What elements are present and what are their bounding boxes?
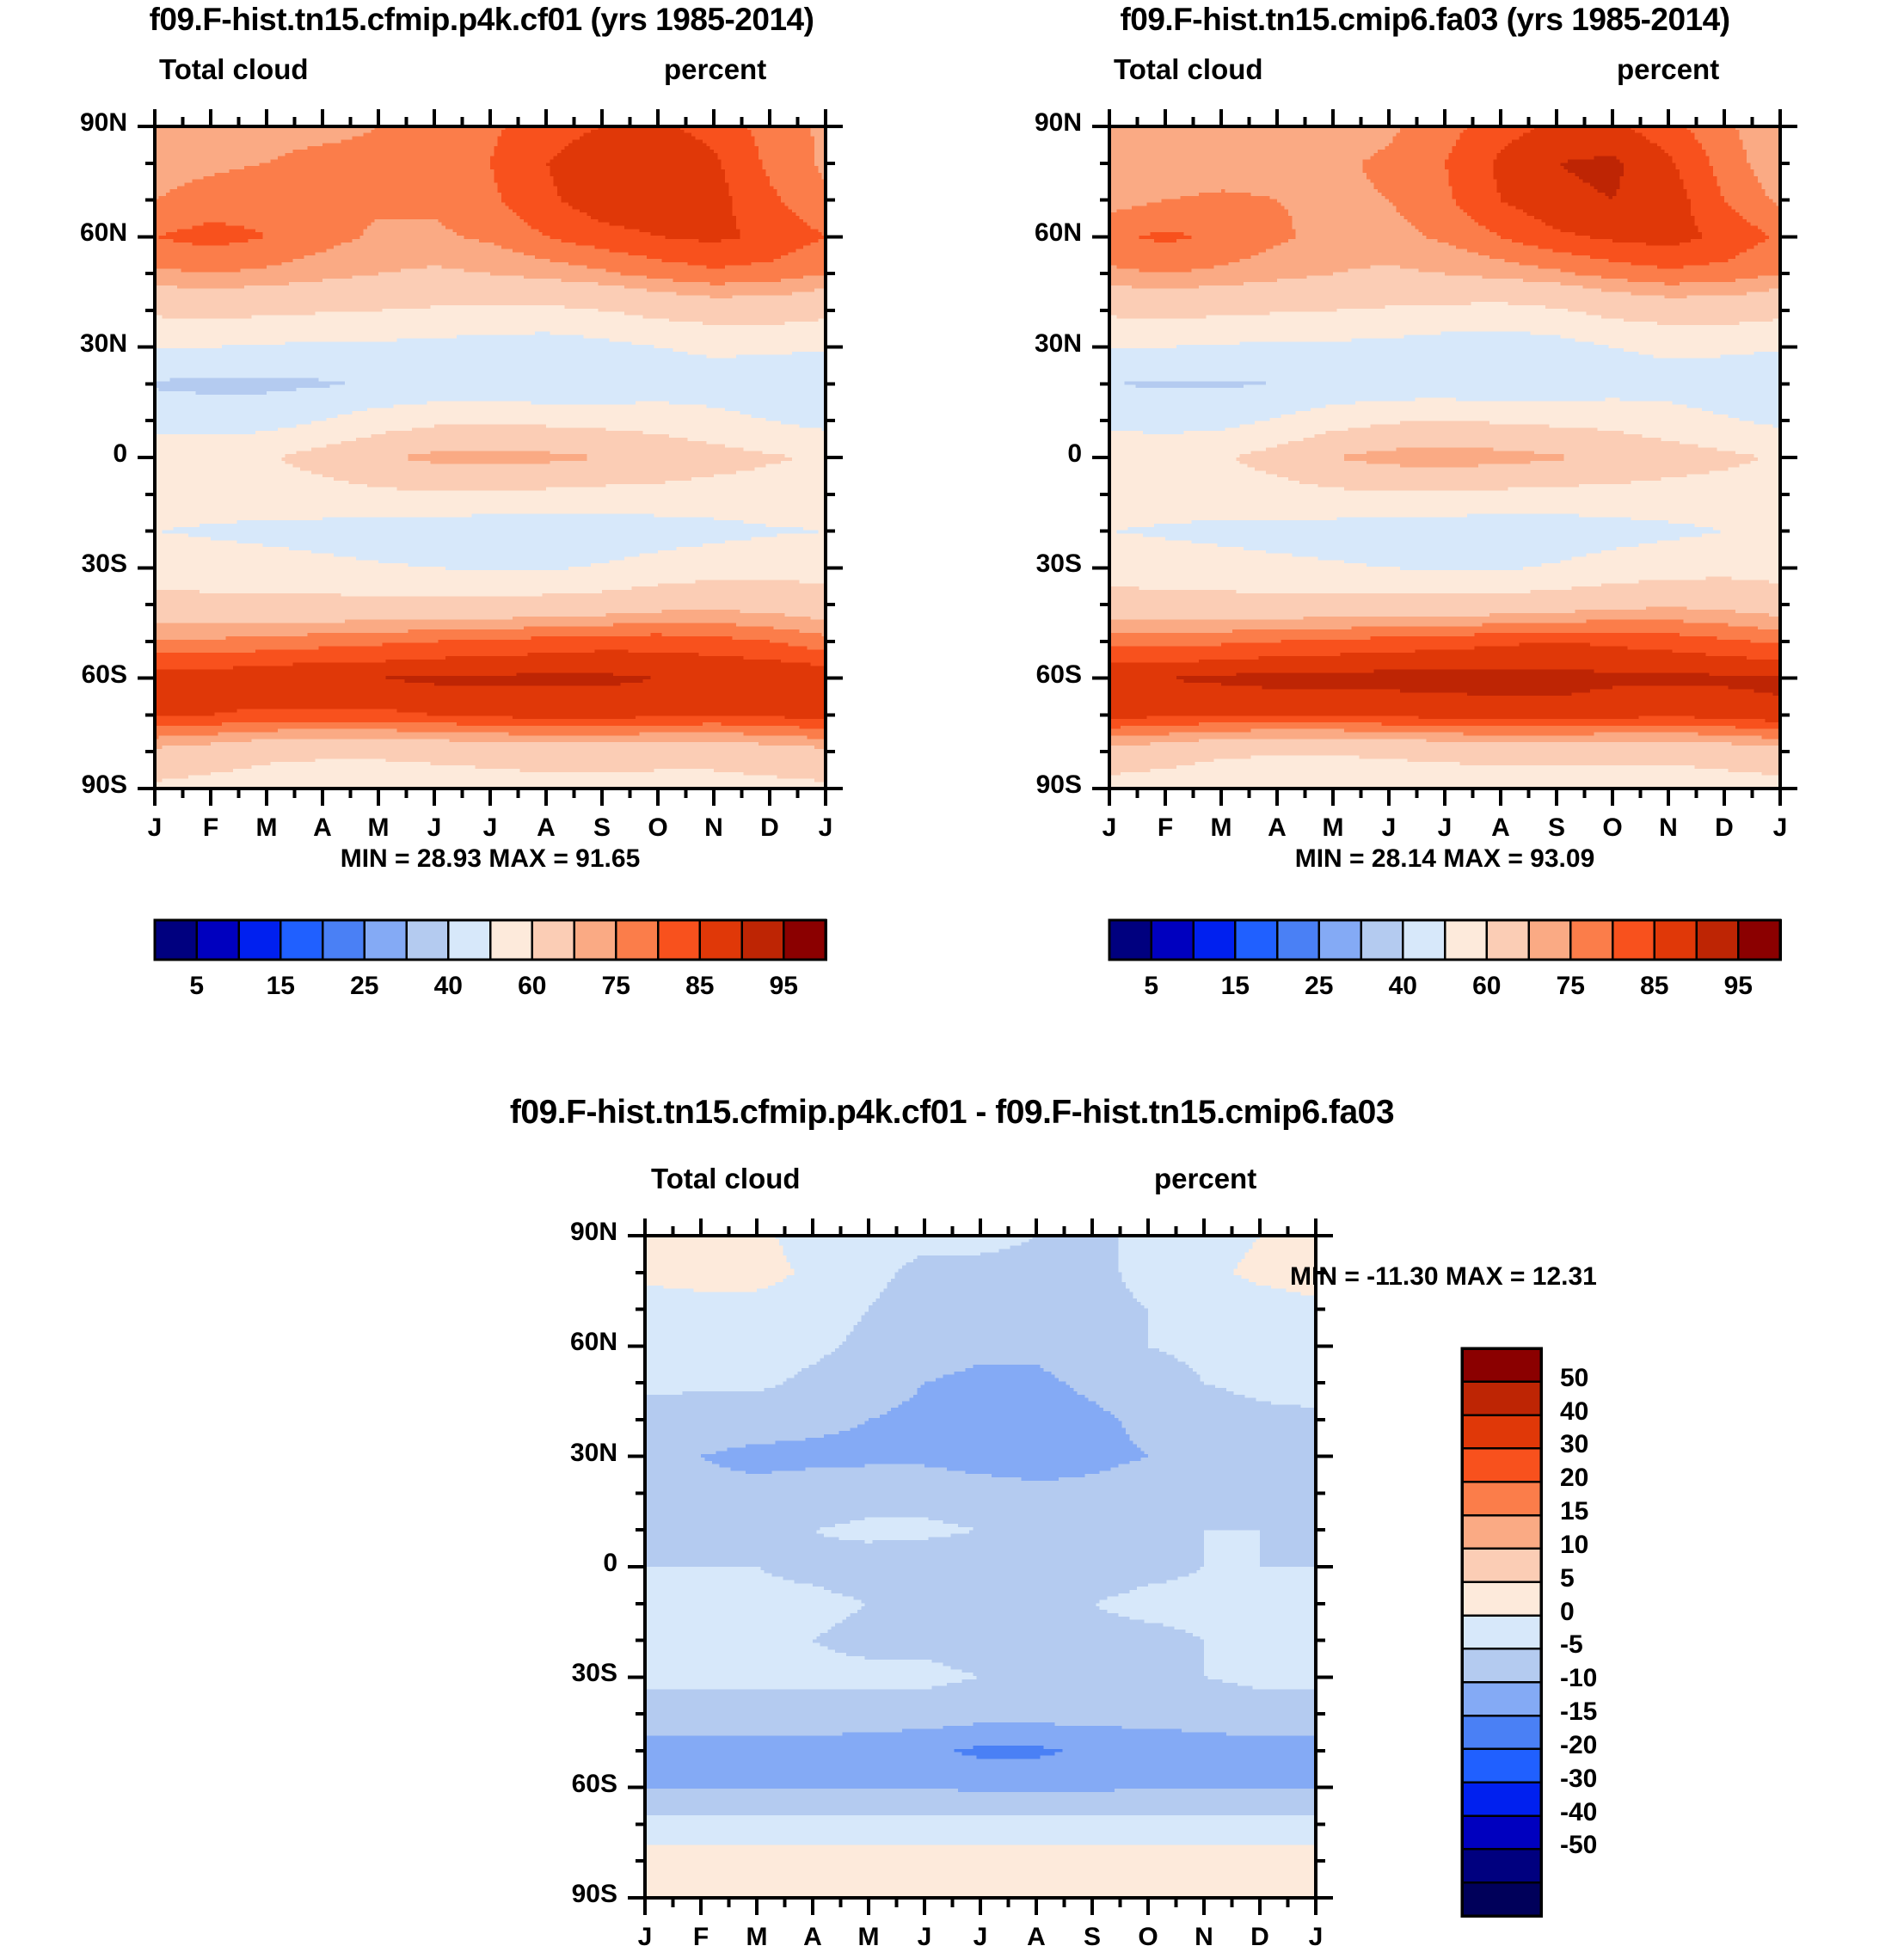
y-tick-label: 0 [979, 439, 1082, 469]
colorbar-tick-label: 60 [498, 972, 567, 1001]
colorbar-tick-label: 75 [581, 972, 650, 1001]
x-tick-label: O [632, 813, 684, 843]
x-tick-label: J [129, 813, 181, 843]
x-tick-label: M [1195, 813, 1247, 843]
y-tick-label: 90S [24, 770, 127, 800]
x-tick-label: A [1475, 813, 1526, 843]
colorbar-tick-label: 5 [1560, 1564, 1575, 1593]
y-tick-label: 90S [979, 770, 1082, 800]
x-tick-label: J [1084, 813, 1135, 843]
colorbar-tick-label: 95 [1704, 972, 1772, 1001]
colorbar-tick-label: 15 [246, 972, 315, 1001]
panel-case1-minmax: MIN = 28.93 MAX = 91.65 [155, 844, 826, 874]
y-tick-label: 30S [514, 1659, 617, 1688]
colorbar-tick-label: 15 [1201, 972, 1269, 1001]
colorbar-tick-label: 30 [1560, 1430, 1588, 1459]
x-tick-label: N [688, 813, 740, 843]
y-tick-label: 90N [979, 108, 1082, 138]
x-tick-label: S [1531, 813, 1582, 843]
x-tick-label: J [800, 813, 851, 843]
colorbar-tick-label: -15 [1560, 1697, 1597, 1727]
colorbar-tick-label: -5 [1560, 1630, 1583, 1660]
colorbar-tick-label: 85 [1620, 972, 1689, 1001]
x-tick-label: M [1307, 813, 1359, 843]
panel-case1-colorbar [129, 912, 851, 1006]
y-tick-label: 60N [24, 218, 127, 248]
colorbar-tick-label: 40 [1560, 1397, 1588, 1427]
x-tick-label: O [1587, 813, 1638, 843]
colorbar-tick-label: 5 [163, 972, 231, 1001]
colorbar-tick-label: -10 [1560, 1664, 1597, 1693]
colorbar-tick-label: -20 [1560, 1731, 1597, 1760]
x-tick-label: J [408, 813, 460, 843]
colorbar-tick-label: 25 [1285, 972, 1354, 1001]
x-tick-label: M [241, 813, 292, 843]
x-tick-label: F [185, 813, 236, 843]
y-tick-label: 30S [979, 549, 1082, 579]
y-tick-label: 30N [24, 329, 127, 359]
colorbar-tick-label: 10 [1560, 1531, 1588, 1560]
y-tick-label: 90S [514, 1880, 617, 1909]
colorbar-tick-label: 95 [749, 972, 818, 1001]
colorbar-tick-label: 20 [1560, 1464, 1588, 1493]
panel-case2-colorbar [1084, 912, 1806, 1006]
y-tick-label: 90N [514, 1218, 617, 1247]
panel-difference-minmax: MIN = -11.30 MAX = 12.31 [1290, 1262, 1840, 1292]
x-tick-label: N [1643, 813, 1694, 843]
colorbar-tick-label: -50 [1560, 1831, 1597, 1860]
y-tick-label: 60S [24, 660, 127, 690]
colorbar-tick-label: 15 [1560, 1497, 1588, 1526]
x-tick-label: S [576, 813, 628, 843]
panel-case1-title: f09.F-hist.tn15.cfmip.p4k.cf01 (yrs 1985… [0, 2, 963, 38]
colorbar-tick-label: -30 [1560, 1765, 1597, 1794]
x-tick-label: J [464, 813, 516, 843]
y-tick-label: 60N [514, 1328, 617, 1357]
y-tick-label: 0 [24, 439, 127, 469]
figure-canvas: f09.F-hist.tn15.cfmip.p4k.cf01 (yrs 1985… [0, 0, 1904, 1948]
colorbar-tick-label: 40 [414, 972, 482, 1001]
y-tick-label: 60S [514, 1770, 617, 1799]
y-tick-label: 60N [979, 218, 1082, 248]
x-tick-label: J [1754, 813, 1806, 843]
x-tick-label: D [744, 813, 795, 843]
colorbar-tick-label: 0 [1560, 1598, 1575, 1627]
x-tick-label: M [353, 813, 404, 843]
y-tick-label: 60S [979, 660, 1082, 690]
colorbar-tick-label: 25 [330, 972, 399, 1001]
panel-case1-plot [95, 69, 894, 843]
panel-case2-minmax: MIN = 28.14 MAX = 93.09 [1109, 844, 1780, 874]
x-tick-label: F [1139, 813, 1191, 843]
colorbar-tick-label: 85 [666, 972, 734, 1001]
y-tick-label: 30N [979, 329, 1082, 359]
y-tick-label: 0 [514, 1549, 617, 1578]
x-tick-label: D [1698, 813, 1750, 843]
x-tick-label: A [520, 813, 572, 843]
y-tick-label: 30S [24, 549, 127, 579]
y-tick-label: 30N [514, 1439, 617, 1468]
y-tick-label: 90N [24, 108, 127, 138]
panel-case2-plot [1049, 69, 1849, 843]
x-tick-label: A [1251, 813, 1303, 843]
colorbar-tick-label: 5 [1117, 972, 1186, 1001]
panel-difference-title: f09.F-hist.tn15.cfmip.p4k.cf01 - f09.F-h… [0, 1094, 1904, 1132]
x-tick-label: J [1419, 813, 1471, 843]
colorbar-tick-label: 75 [1536, 972, 1605, 1001]
x-tick-label: A [297, 813, 348, 843]
colorbar-tick-label: 60 [1453, 972, 1521, 1001]
x-tick-label: J [1363, 813, 1415, 843]
colorbar-tick-label: 50 [1560, 1364, 1588, 1393]
colorbar-tick-label: -40 [1560, 1798, 1597, 1827]
panel-difference-plot [585, 1178, 1385, 1952]
panel-case2-title: f09.F-hist.tn15.cmip6.fa03 (yrs 1985-201… [946, 2, 1904, 38]
colorbar-tick-label: 40 [1368, 972, 1437, 1001]
